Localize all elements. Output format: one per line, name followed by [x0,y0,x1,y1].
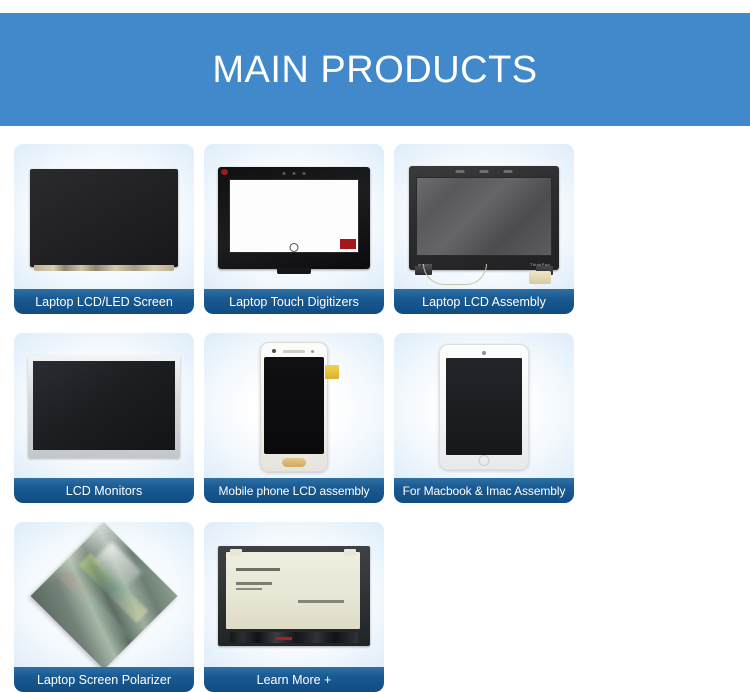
lcd-panel-back-photo [204,522,384,670]
mounting-tab-left [230,549,242,556]
home-button [479,455,490,466]
polarizer-sheet [30,522,177,669]
product-card-laptop-screen-polarizer[interactable]: Laptop Screen Polarizer [14,522,194,692]
product-label[interactable]: Laptop LCD/LED Screen [14,289,194,314]
home-button [282,458,306,467]
product-card-laptop-touch-digitizers[interactable]: Laptop Touch Digitizers [204,144,384,314]
red-marker-bottom-right [340,239,356,249]
earpiece-speaker [283,350,305,353]
polarizer-graphic [34,533,174,659]
learn-more-label[interactable]: Learn More + [204,667,384,692]
panel-backing-plate [226,552,360,629]
assembly-screen [416,177,552,256]
tablet-screen [446,358,522,455]
tablet-graphic [439,344,529,470]
panel-back-graphic [218,546,370,646]
product-card-mobile-phone-lcd-assembly[interactable]: Mobile phone LCD assembly [204,333,384,503]
product-label[interactable]: LCD Monitors [14,478,194,503]
mounting-tab-right [344,549,356,556]
red-marker-top-left [221,169,228,175]
proximity-sensor-icon [311,350,314,353]
product-label[interactable]: For Macbook & Imac Assembly [394,478,574,503]
phone-graphic [260,342,328,472]
phone-screen [264,357,324,454]
product-card-learn-more[interactable]: Learn More + [204,522,384,692]
main-products-section: MAIN PRODUCTS Laptop LCD/LED Screen [0,0,750,528]
monitor-screen [33,361,175,450]
flex-cable-connector [325,365,339,379]
digitizer-bottom-tab [277,268,311,274]
panel-printed-label-4 [298,600,344,603]
lcd-monitor-photo [14,333,194,481]
panel-printed-label-3 [236,588,262,590]
digitizer-frame-graphic [218,167,370,269]
product-label[interactable]: Laptop LCD Assembly [394,289,574,314]
lcd-assembly-graphic: lenovo ThinkPad [409,166,559,270]
page-title: MAIN PRODUCTS [212,51,537,89]
mobile-phone-lcd-assembly-photo [204,333,384,481]
red-marker-strip [276,637,292,640]
product-card-laptop-lcd-led-screen[interactable]: Laptop LCD/LED Screen [14,144,194,314]
laptop-lcd-assembly-photo: lenovo ThinkPad [394,144,574,292]
webcam-strip-icon [456,170,513,173]
display-cable [423,264,487,285]
front-camera-icon [272,349,276,353]
section-banner: MAIN PRODUCTS [0,13,750,126]
product-label[interactable]: Mobile phone LCD assembly [204,478,384,503]
laptop-touch-digitizer-photo [204,144,384,292]
cable-connector [529,271,551,284]
front-camera-icon [482,351,486,355]
home-button-outline [290,243,299,252]
monitor-frame-graphic [28,356,180,458]
lcd-panel-graphic [30,169,178,267]
webcam-dots-icon [283,172,306,175]
product-card-laptop-lcd-assembly[interactable]: lenovo ThinkPad Laptop LCD Assembly [394,144,574,314]
product-card-macbook-imac-assembly[interactable]: For Macbook & Imac Assembly [394,333,574,503]
laptop-screen-polarizer-photo [14,522,194,670]
driver-board-strip [230,632,358,643]
laptop-lcd-led-screen-photo [14,144,194,292]
macbook-imac-assembly-photo [394,333,574,481]
product-grid: Laptop LCD/LED Screen Laptop Touch Digit… [14,144,736,692]
product-card-lcd-monitors[interactable]: LCD Monitors [14,333,194,503]
product-label[interactable]: Laptop Screen Polarizer [14,667,194,692]
panel-printed-label-1 [236,568,280,571]
panel-printed-label-2 [236,582,272,585]
product-label[interactable]: Laptop Touch Digitizers [204,289,384,314]
